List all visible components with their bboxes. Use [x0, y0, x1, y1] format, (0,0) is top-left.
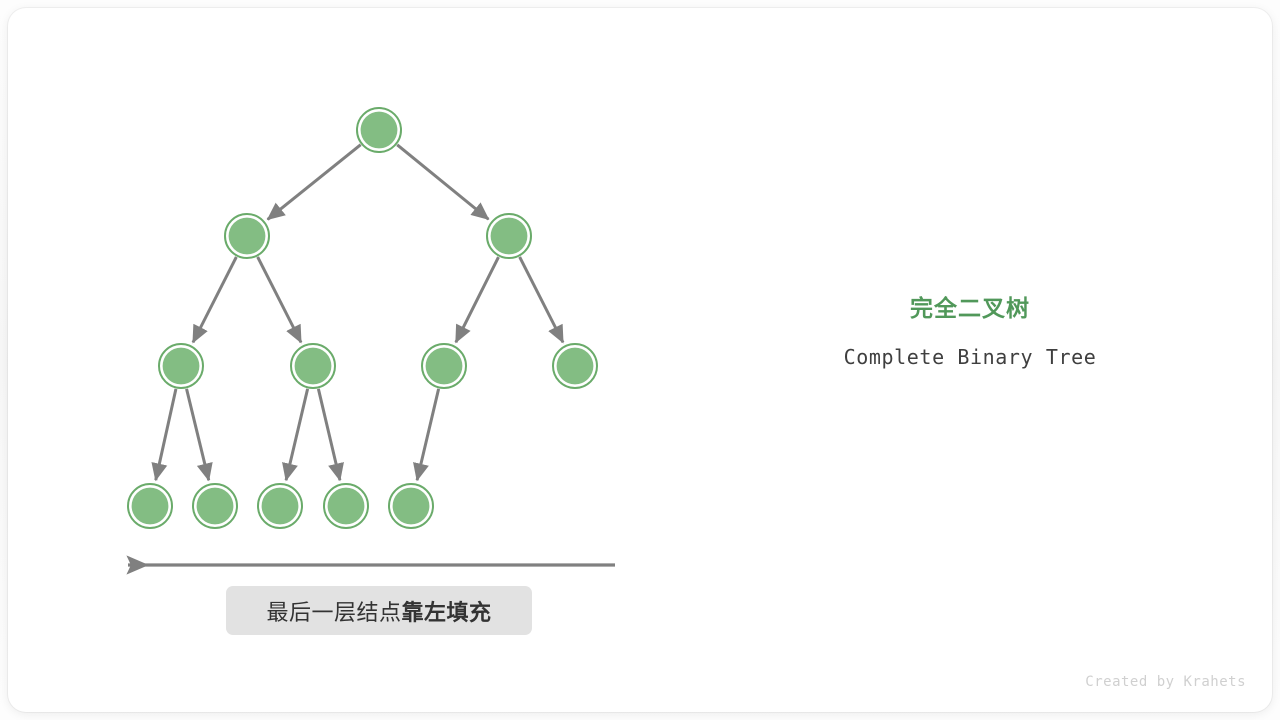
tree-node: [225, 214, 269, 258]
tree-node: [258, 484, 302, 528]
tree-node-body: [163, 348, 200, 385]
tree-node: [193, 484, 237, 528]
tree-node-body: [328, 488, 365, 525]
tree-node-body: [426, 348, 463, 385]
tree-node: [553, 344, 597, 388]
tree-node-body: [132, 488, 169, 525]
tree-node: [324, 484, 368, 528]
tree-node-body: [262, 488, 299, 525]
tree-node-body: [491, 218, 528, 255]
tree-node-body: [557, 348, 594, 385]
annotation-chip: 最后一层结点靠左填充: [226, 586, 532, 635]
tree-node: [389, 484, 433, 528]
screenshot-stage: 完全二叉树 Complete Binary Tree 最后一层结点靠左填充 Cr…: [0, 0, 1280, 720]
tree-edge: [268, 145, 361, 220]
tree-edge: [187, 389, 209, 480]
tree-node-body: [229, 218, 266, 255]
legend-block: 完全二叉树 Complete Binary Tree: [760, 292, 1180, 370]
tree-node: [487, 214, 531, 258]
tree-edge: [397, 145, 488, 219]
legend-subtitle: Complete Binary Tree: [760, 344, 1180, 370]
tree-node-body: [361, 112, 398, 149]
tree-node: [357, 108, 401, 152]
tree-edge: [258, 257, 301, 342]
tree-edges: [156, 145, 563, 481]
watermark: Created by Krahets: [1066, 674, 1246, 690]
tree-node: [422, 344, 466, 388]
tree-node: [291, 344, 335, 388]
legend-title: 完全二叉树: [760, 292, 1180, 324]
annotation-chip-text-regular: 最后一层结点: [266, 600, 401, 625]
tree-edge: [318, 389, 340, 480]
tree-edge: [286, 389, 308, 480]
tree-edge: [456, 257, 499, 342]
tree-nodes: [128, 108, 597, 528]
tree-edge: [193, 257, 236, 342]
annotation-chip-text: 最后一层结点靠左填充: [266, 595, 491, 627]
tree-edge: [520, 257, 563, 342]
tree-node: [128, 484, 172, 528]
tree-node-body: [197, 488, 234, 525]
tree-edge: [417, 389, 439, 480]
annotation-chip-text-bold: 靠左填充: [402, 600, 492, 625]
tree-edge: [156, 389, 176, 480]
tree-node-body: [295, 348, 332, 385]
tree-node: [159, 344, 203, 388]
tree-node-body: [393, 488, 430, 525]
